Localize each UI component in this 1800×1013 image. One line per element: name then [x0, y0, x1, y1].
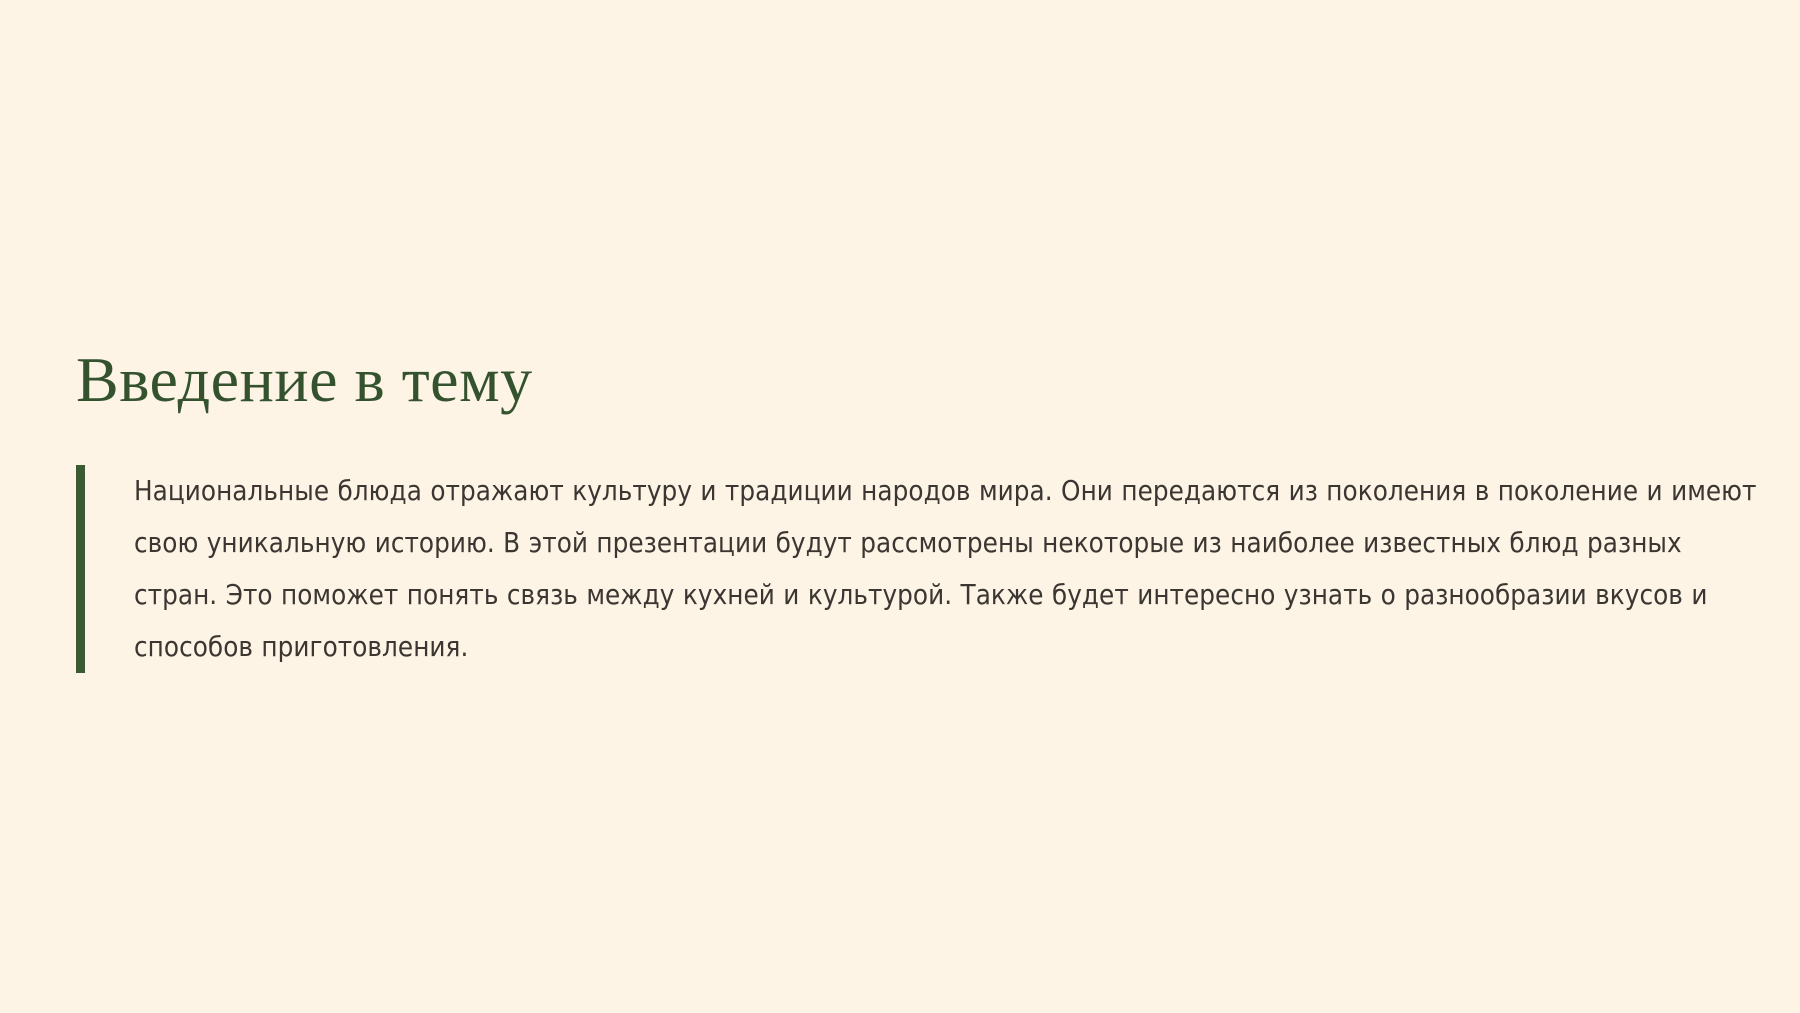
body-paragraph: Национальные блюда отражают культуру и т… [134, 465, 1766, 673]
body-text-container: Национальные блюда отражают культуру и т… [85, 465, 1766, 673]
body-callout-block: Национальные блюда отражают культуру и т… [76, 465, 1766, 673]
presentation-slide: Введение в тему Национальные блюда отраж… [0, 0, 1800, 1013]
left-accent-bar [76, 465, 85, 673]
page-title: Введение в тему [76, 348, 533, 412]
